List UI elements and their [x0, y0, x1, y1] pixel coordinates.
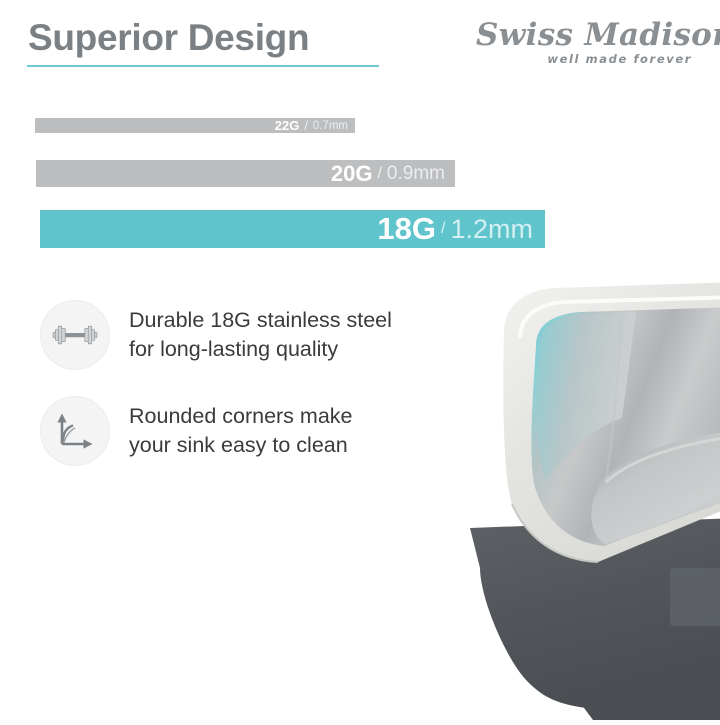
rounded-corner-arrows-icon	[40, 396, 110, 466]
brand-name-text: Swiss Madison	[476, 17, 720, 53]
gauge-bar-20g-thickness: 0.9mm	[387, 163, 445, 185]
gauge-bar-22g-separator: /	[299, 119, 312, 133]
dumbbell-icon	[40, 300, 110, 370]
brand-tagline: well made forever	[476, 52, 692, 66]
gauge-bar-18g: 18G / 1.2mm	[40, 210, 545, 248]
gauge-bar-18g-separator: /	[436, 220, 450, 238]
feature-item-rounded-corners-text: Rounded corners make your sink easy to c…	[129, 402, 352, 460]
feature-line-2: for long-lasting quality	[129, 335, 392, 364]
feature-line-1: Durable 18G stainless steel	[129, 306, 392, 335]
gauge-bar-18g-value: 18G	[377, 211, 436, 247]
gauge-bar-20g-separator: /	[372, 165, 386, 183]
gauge-bar-18g-thickness: 1.2mm	[450, 214, 533, 245]
feature-item-durability-text: Durable 18G stainless steel for long-las…	[129, 306, 392, 364]
title-underline-accent	[27, 65, 379, 67]
brand-logo: Swiss Madison® well made forever	[476, 20, 698, 66]
gauge-bar-20g-value: 20G	[331, 161, 373, 187]
page-title: Superior Design	[28, 17, 309, 59]
gauge-bar-22g-thickness: 0.7mm	[313, 120, 348, 132]
feature-line-1: Rounded corners make	[129, 402, 352, 431]
feature-item-durability: Durable 18G stainless steel for long-las…	[40, 300, 392, 370]
gauge-bar-22g-value: 22G	[275, 118, 300, 133]
feature-line-2: your sink easy to clean	[129, 431, 352, 460]
product-image-sink	[408, 268, 720, 720]
brand-name: Swiss Madison®	[476, 20, 720, 51]
gauge-bar-22g: 22G / 0.7mm	[35, 118, 355, 133]
gauge-bar-20g: 20G / 0.9mm	[36, 160, 455, 187]
feature-item-rounded-corners: Rounded corners make your sink easy to c…	[40, 396, 352, 466]
